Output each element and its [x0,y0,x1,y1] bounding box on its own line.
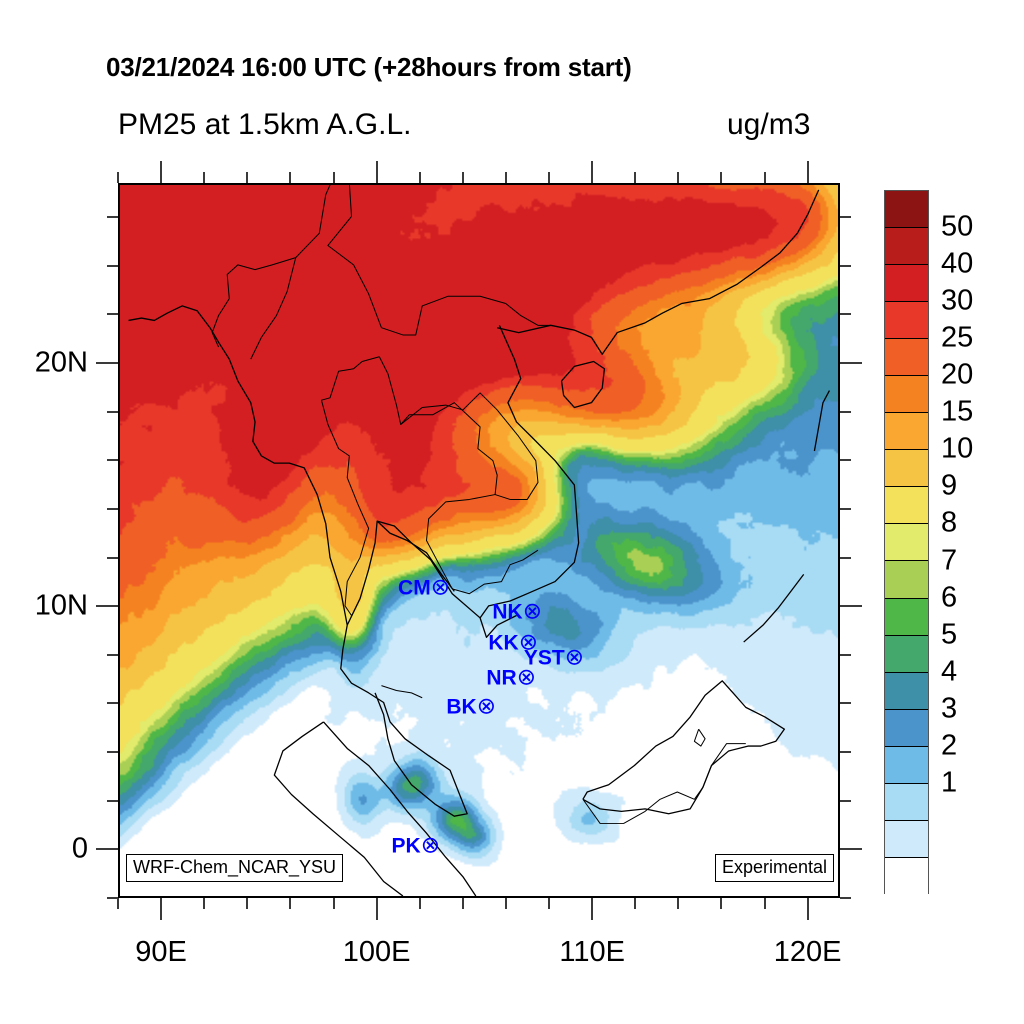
y-tick [107,459,118,461]
x-tick-top [117,172,119,183]
x-tick-top [246,172,248,183]
x-tick [419,898,421,909]
x-tick-top [203,172,205,183]
coastline-path [562,362,605,408]
y-axis-label: 10N [0,590,88,623]
y-tick-right [840,800,851,802]
coastline-path [324,722,476,896]
x-tick [376,898,378,920]
colorbar-band [885,710,928,747]
x-tick [764,898,766,909]
colorbar-tick-label: 6 [941,581,957,614]
coastline-path [328,185,551,335]
colorbar-band [885,673,928,710]
y-tick-right [840,848,862,850]
coastline-path [251,258,296,360]
x-axis-label: 90E [135,936,187,969]
y-axis-label: 20N [0,346,88,379]
y-tick-right [840,265,851,267]
subtitle: PM25 at 1.5km A.G.L. [118,108,411,142]
y-tick [107,751,118,753]
colorbar-tick-label: 20 [941,359,973,392]
x-axis-label: 100E [343,936,411,969]
y-tick [107,557,118,559]
city-code: CM [398,577,431,600]
coastline-path [341,521,480,816]
y-tick-right [840,313,851,315]
x-tick-top [807,161,809,183]
units-label: ug/m3 [727,108,810,142]
y-tick [107,265,118,267]
colorbar-tick-label: 5 [941,618,957,651]
city-code: PK [392,835,421,858]
y-tick-right [840,702,851,704]
coastline-path [744,574,804,642]
coastline-path [129,306,348,625]
colorbar-band [885,228,928,265]
coastline-overlay [120,185,838,896]
coastline-path [439,550,538,594]
city-code: NK [492,601,522,624]
colorbar-band [885,265,928,302]
y-tick-right [840,557,851,559]
x-tick-top [720,172,722,183]
coastline-path [497,190,819,354]
colorbar-band [885,413,928,450]
coastline-path [212,185,338,347]
x-tick-top [591,161,593,183]
x-tick-top [160,161,162,183]
colorbar-band [885,747,928,784]
y-tick [107,411,118,413]
y-tick [107,313,118,315]
city-marker-nk[interactable]: NK⊗ [492,600,542,623]
x-axis-label: 110E [559,936,625,969]
colorbar-tick-label: 25 [941,322,973,355]
y-tick-right [840,216,851,218]
coastline-path [694,729,705,746]
x-tick-top [505,172,507,183]
x-tick [160,898,162,920]
colorbar-band [885,858,928,895]
x-tick [246,898,248,909]
colorbar-tick-label: 50 [941,211,973,244]
coastline-path [321,357,379,616]
colorbar-tick-label: 9 [941,470,957,503]
y-tick [107,897,118,899]
colorbar-tick-label: 4 [941,655,957,688]
city-marker-nr[interactable]: NR⊗ [486,666,536,689]
x-tick [203,898,205,909]
colorbar-band [885,339,928,376]
colorbar-tick-label: 3 [941,692,957,725]
colorbar-band [885,599,928,636]
colorbar-tick-label: 40 [941,248,973,281]
x-tick [720,898,722,909]
x-tick-top [289,172,291,183]
city-marker-icon: ⊗ [421,832,440,858]
y-tick-right [840,751,851,753]
page-title: 03/21/2024 16:00 UTC (+28hours from star… [106,52,632,83]
colorbar-band [885,302,928,339]
colorbar-tick-label: 15 [941,396,973,429]
x-tick [505,898,507,909]
coastline-path [814,391,829,451]
x-axis-label: 120E [774,936,842,969]
coastline-path [379,357,497,565]
x-tick [548,898,550,909]
y-tick [107,702,118,704]
y-tick-right [840,362,862,364]
x-tick [591,898,593,920]
colorbar-band [885,191,928,228]
x-tick-top [376,161,378,183]
x-tick-top [333,172,335,183]
city-marker-cm[interactable]: CM⊗ [398,576,450,599]
city-code: KK [488,632,518,655]
colorbar-band [885,450,928,487]
x-tick-top [462,172,464,183]
colorbar-band [885,487,928,524]
x-tick-top [764,172,766,183]
colorbar-tick-label: 10 [941,433,973,466]
y-tick [96,848,118,850]
colorbar-band [885,821,928,858]
colorbar-tick-label: 8 [941,507,957,540]
y-axis-label: 0 [0,833,88,866]
y-tick-right [840,897,851,899]
experimental-label-box: Experimental [715,854,834,882]
city-marker-bk[interactable]: BK⊗ [446,695,496,718]
city-marker-icon: ⊗ [517,664,536,690]
coastline-path [583,744,746,824]
colorbar[interactable] [884,190,929,894]
x-tick [117,898,119,909]
colorbar-tick-label: 1 [941,766,957,799]
x-tick [634,898,636,909]
coastline-path [401,393,538,500]
y-tick-right [840,654,851,656]
colorbar-tick-label: 30 [941,285,973,318]
y-tick [96,605,118,607]
map-plot-area: WRF-Chem_NCAR_YSU Experimental [118,183,840,898]
city-marker-icon: ⊗ [431,574,450,600]
city-code: NR [486,667,516,690]
x-tick-top [634,172,636,183]
y-tick-right [840,605,862,607]
x-tick [807,898,809,920]
y-tick [96,362,118,364]
colorbar-band [885,376,928,413]
colorbar-band [885,784,928,821]
city-marker-icon: ⊗ [565,644,584,670]
y-tick-right [840,459,851,461]
colorbar-tick-label: 2 [941,729,957,762]
y-tick-right [840,508,851,510]
city-marker-icon: ⊗ [523,598,542,624]
coastline-path [381,686,422,698]
y-tick-right [840,411,851,413]
x-tick [289,898,291,909]
colorbar-tick-label: 7 [941,544,957,577]
colorbar-band [885,524,928,561]
y-tick [107,508,118,510]
city-marker-icon: ⊗ [477,693,496,719]
x-tick-top [677,172,679,183]
y-tick [107,216,118,218]
model-label-box: WRF-Chem_NCAR_YSU [126,854,343,882]
y-tick [107,654,118,656]
x-tick [462,898,464,909]
city-code: BK [446,696,476,719]
y-tick [107,800,118,802]
x-tick-top [419,172,421,183]
colorbar-band [885,561,928,598]
coastline-path [583,681,784,814]
coastline-path [480,325,579,637]
x-tick [677,898,679,909]
city-marker-pk[interactable]: PK⊗ [392,834,440,857]
x-tick-top [548,172,550,183]
colorbar-band [885,636,928,673]
x-tick [333,898,335,909]
